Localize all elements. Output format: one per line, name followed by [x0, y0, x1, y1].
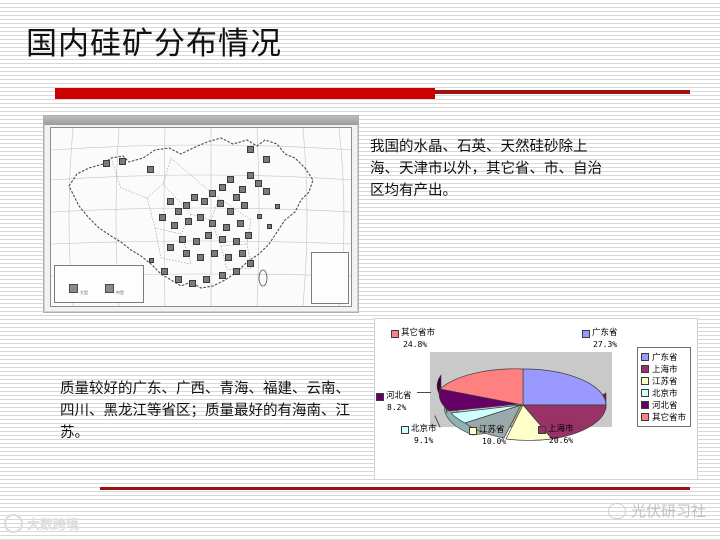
- mine-marker: [103, 160, 110, 167]
- map-top-band: [44, 116, 358, 125]
- china-silica-mine-map: 大型 中型: [43, 115, 359, 313]
- mine-marker: [247, 146, 254, 153]
- mine-marker: [167, 198, 174, 205]
- leader-line-hebei: [417, 392, 431, 393]
- mine-marker: [263, 188, 270, 195]
- legend-item-guangdong[interactable]: 广东省: [641, 351, 686, 363]
- mine-marker: [197, 214, 204, 221]
- beijing-swatch-icon: [401, 426, 409, 434]
- mine-marker: [263, 156, 270, 163]
- paragraph-right: 我国的水晶、石英、天然硅砂除上海、天津市以外，其它省、市、自治区均有产出。: [370, 136, 610, 202]
- mine-marker: [209, 190, 216, 197]
- chart-legend[interactable]: 广东省 上海市 江苏省 北京市 河北省 其它省市: [637, 347, 691, 427]
- pie-chart-panel: 其它省市 24.8% 广东省 27.3% 上海市 20.6% 江苏省 10.0%…: [374, 318, 698, 480]
- mine-marker: [233, 194, 240, 201]
- hebei-swatch-icon: [376, 393, 384, 401]
- legend-swatch-icon: [641, 413, 649, 421]
- watermark-right: 光伏研习社: [608, 500, 706, 521]
- mine-marker: [185, 218, 192, 225]
- mine-marker: [147, 166, 154, 173]
- data-label-other: 其它省市 24.8%: [391, 328, 435, 351]
- mine-marker: [183, 250, 190, 257]
- mine-marker: [189, 280, 196, 287]
- other-swatch-icon: [391, 330, 399, 338]
- mine-marker: [233, 238, 240, 245]
- mine-marker: [183, 202, 190, 209]
- legend-swatch-icon: [641, 401, 649, 409]
- title-underline-thin: [435, 90, 690, 94]
- pie-slice-guangdong: [523, 369, 606, 405]
- data-label-hebei: 河北省 8.2%: [376, 391, 412, 414]
- legend-swatch-icon: [641, 377, 649, 385]
- mine-marker: [193, 238, 200, 245]
- mine-marker: [203, 276, 210, 283]
- mine-marker: [239, 250, 246, 257]
- mine-marker: [225, 254, 232, 261]
- mine-marker: [211, 250, 218, 257]
- mine-marker: [241, 202, 248, 209]
- mine-marker: [175, 276, 182, 283]
- mine-marker: [227, 208, 234, 215]
- legend-item-other[interactable]: 其它省市: [641, 411, 686, 423]
- legend-item-hebei[interactable]: 河北省: [641, 399, 686, 411]
- jiangsu-swatch-icon: [469, 427, 477, 435]
- paragraph-bottom: 质量较好的广东、广西、青海、福建、云南、四川、黑龙江等省区；质量最好的有海南、江…: [60, 378, 360, 444]
- guangdong-swatch-icon: [582, 330, 590, 338]
- brand-logo-icon: [4, 514, 23, 533]
- slide-canvas: 国内硅矿分布情况: [0, 0, 720, 540]
- legend-swatch-icon: [641, 365, 649, 373]
- legend-item-jiangsu[interactable]: 江苏省: [641, 375, 686, 387]
- mine-marker: [217, 200, 224, 207]
- mine-marker: [197, 254, 204, 261]
- mine-marker: [171, 222, 178, 229]
- mine-marker: [167, 244, 174, 251]
- mine-marker: [255, 180, 262, 187]
- mine-marker: [233, 268, 240, 275]
- mine-marker: [247, 260, 254, 267]
- smiley-logo-icon: [608, 503, 626, 519]
- watermark-left: 大数跨境: [4, 514, 79, 533]
- mine-marker: [209, 220, 216, 227]
- data-label-jiangsu: 江苏省 10.0%: [469, 425, 506, 448]
- mine-marker: [245, 232, 252, 239]
- mine-marker: [205, 232, 212, 239]
- mine-marker: [227, 176, 234, 183]
- mine-marker: [239, 186, 246, 193]
- shanghai-swatch-icon: [538, 426, 546, 434]
- mine-marker: [179, 236, 186, 243]
- pie-3d-graphic: [421, 343, 626, 443]
- mine-marker: [267, 224, 272, 229]
- mine-marker: [119, 158, 126, 165]
- map-legend-swatch: [69, 284, 78, 293]
- mine-marker: [237, 220, 244, 227]
- map-inset-south-sea: [311, 252, 349, 304]
- mine-marker: [219, 236, 226, 243]
- data-label-shanghai: 上海市 20.6%: [538, 424, 574, 447]
- map-legend: 大型 中型: [54, 265, 144, 303]
- legend-item-shanghai[interactable]: 上海市: [641, 363, 686, 375]
- map-legend-label: 中型: [116, 290, 124, 296]
- pie-svg: [421, 343, 626, 443]
- mine-marker: [275, 204, 280, 209]
- legend-swatch-icon: [641, 389, 649, 397]
- legend-item-beijing[interactable]: 北京市: [641, 387, 686, 399]
- mine-marker: [201, 198, 208, 205]
- mine-marker: [247, 172, 254, 179]
- mine-marker: [175, 208, 182, 215]
- data-label-guangdong: 广东省 27.3%: [582, 328, 618, 351]
- mine-marker: [257, 214, 262, 219]
- map-legend-swatch: [105, 284, 114, 293]
- legend-swatch-icon: [641, 353, 649, 361]
- page-title: 国内硅矿分布情况: [26, 18, 282, 63]
- mine-marker: [223, 224, 230, 231]
- map-legend-label: 大型: [80, 290, 88, 296]
- mine-marker: [149, 258, 154, 263]
- title-underline-thick: [55, 88, 435, 99]
- map-inner-canvas: 大型 中型: [50, 127, 352, 307]
- mine-marker: [219, 272, 226, 279]
- data-label-beijing: 北京市 9.1%: [401, 424, 437, 447]
- mine-marker: [219, 184, 226, 191]
- mine-marker: [191, 194, 198, 201]
- mine-marker: [161, 268, 168, 275]
- footer-rule: [100, 487, 690, 490]
- mine-marker: [159, 214, 166, 221]
